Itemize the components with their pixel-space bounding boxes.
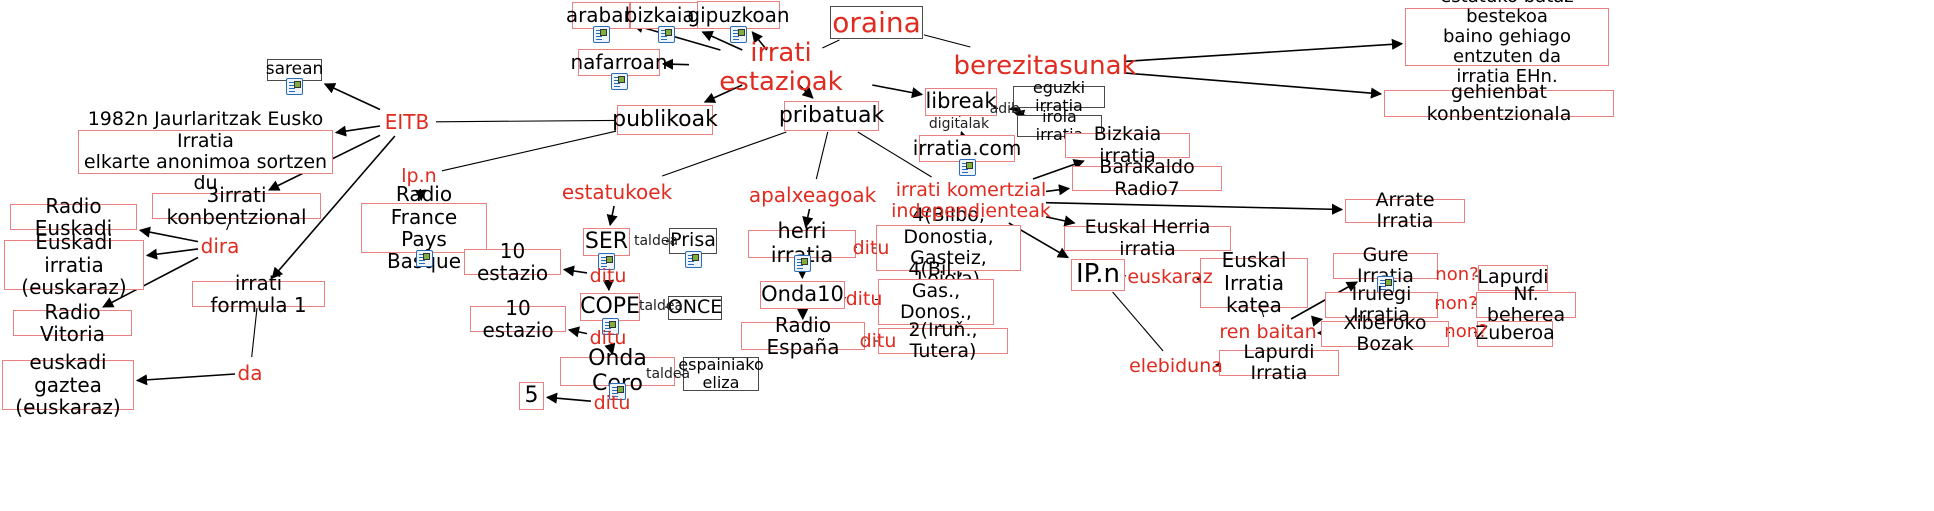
concept-node-estazio_10_a[interactable]: 10 estazio (464, 249, 561, 275)
concept-node-ser[interactable]: SER (583, 228, 630, 256)
edge-ditu-cope-to-estazio-10-b (569, 330, 587, 334)
linking-phrase-apalxeagoak[interactable]: apalxeagoak (749, 182, 876, 208)
concept-node-radio_euskadi[interactable]: Radio Euskadi (10, 204, 137, 230)
edge-dira-to-euskadi-irr (147, 249, 198, 256)
edge-eitb-to-eitb-1982 (336, 126, 380, 133)
concept-node-estazio_10_b[interactable]: 10 estazio (470, 306, 566, 332)
edge-estatukoek-to-ser (610, 206, 614, 225)
linking-phrase-dira[interactable]: dira (199, 233, 241, 259)
edge-dira-to-radio-euskadi (140, 230, 198, 241)
concept-node-bizkaia_irr[interactable]: Bizkaia irratia (1065, 133, 1190, 158)
concept-node-araban[interactable]: araban (572, 2, 630, 29)
linking-phrase-ditu_onda10[interactable]: ditu (844, 288, 884, 310)
concept-node-tresirrati[interactable]: 3irrati konbentzional (152, 193, 321, 219)
linking-phrase-ren_baitan[interactable]: ren baitan (1216, 320, 1320, 344)
linking-phrase-adib[interactable]: adib. (988, 101, 1026, 119)
concept-node-irrati_formula[interactable]: irrati formula 1 (192, 281, 325, 307)
concept-node-xiberoko[interactable]: Xiberoko Bozak (1321, 321, 1449, 347)
concept-node-euskalherria[interactable]: Euskal Herria irratia (1064, 226, 1231, 251)
linking-phrase-ditu_onda[interactable]: ditu (592, 392, 632, 414)
concept-node-euskadi_gaztea[interactable]: euskadi gaztea (euskaraz) (2, 360, 134, 410)
concept-node-barakaldo[interactable]: Barakaldo Radio7 (1072, 166, 1222, 191)
linking-phrase-da[interactable]: da (236, 360, 264, 386)
edge-pribatuak-to-apalxeagoak (816, 132, 827, 179)
edge-ditu-onda-to-cinco (547, 397, 591, 401)
concept-node-libreak[interactable]: libreak (925, 88, 997, 116)
linking-phrase-non_1[interactable]: non? (1434, 264, 1480, 286)
concept-node-arrate[interactable]: Arrate Irratia (1345, 199, 1465, 223)
resource-document-icon[interactable] (658, 26, 675, 43)
linking-phrase-ditu_espana[interactable]: ditu (858, 330, 898, 352)
linking-phrase-berezitasunak[interactable]: berezitasunak (965, 50, 1125, 83)
linking-phrase-taldea_cope[interactable]: taldea (639, 298, 683, 316)
concept-node-euskal_katea[interactable]: Euskal Irratia katea (1200, 258, 1308, 308)
concept-node-nafarroan[interactable]: nafarroan (578, 49, 660, 76)
concept-node-nf_beherea[interactable]: Nf. beherea (1476, 292, 1576, 318)
concept-node-onda10[interactable]: Onda10 (760, 281, 845, 309)
resource-document-icon[interactable] (685, 251, 702, 268)
linking-phrase-taldea_ser[interactable]: taldea (634, 233, 678, 251)
edge-berezitasunak-to-gehienbat (1126, 73, 1381, 94)
edge-ipn-to-elebiduna (1113, 292, 1164, 351)
concept-node-ipn[interactable]: IP.n (1071, 259, 1125, 291)
linking-phrase-ditu_ser[interactable]: ditu (588, 265, 628, 287)
concept-node-gehienbat[interactable]: gehienbat konbentzionala (1384, 90, 1614, 117)
concept-node-estatuko_batez[interactable]: estatuko bataz bestekoa baino gehiago en… (1405, 8, 1609, 66)
edge-pribatuak-to-estatukoek (662, 132, 786, 176)
edge-oraina-to-berezitasunak (924, 35, 970, 47)
concept-node-eguzki[interactable]: eguzki irratia (1013, 86, 1105, 108)
concept-node-espainiako[interactable]: espainiako eliza (683, 357, 759, 391)
linking-phrase-euskaraz[interactable]: euskaraz (1126, 265, 1214, 289)
edge-eitb-to-sarean (325, 84, 380, 110)
linking-phrase-taldea_onda[interactable]: taldea (646, 366, 690, 384)
concept-node-radio_espana[interactable]: Radio España (741, 322, 865, 350)
concept-map-canvas: arabanbizkaiangipuzkoannafarroanorainaes… (0, 0, 1934, 511)
concept-node-lapurdi_irr[interactable]: Lapurdi Irratia (1219, 350, 1339, 376)
concept-node-publikoak[interactable]: publikoak (617, 105, 713, 135)
linking-phrase-non_2[interactable]: non? (1433, 293, 1479, 315)
linking-phrase-ditu_herri[interactable]: ditu (851, 237, 891, 259)
edge-publikoak-to-lpn (442, 131, 616, 171)
concept-node-cope[interactable]: COPE (580, 293, 640, 321)
linking-phrase-digitalak[interactable]: digitalak (928, 116, 990, 134)
concept-node-herri_irratia[interactable]: herri irratia (748, 230, 856, 258)
resource-document-icon[interactable] (593, 26, 610, 43)
linking-phrase-lpn[interactable]: lp.n (399, 164, 439, 188)
linking-phrase-estatukoek[interactable]: estatukoek (561, 179, 673, 205)
resource-document-icon[interactable] (286, 78, 303, 95)
concept-node-radio_vitoria[interactable]: Radio Vitoria (13, 310, 132, 336)
linking-phrase-ditu_cope[interactable]: ditu (588, 327, 628, 349)
edge-irrati-estazioak-to-libreak (872, 85, 922, 95)
edge-berezitasunak-to-estatuko-batez (1126, 44, 1402, 62)
concept-node-euskadi_irr[interactable]: Euskadi irratia (euskaraz) (4, 240, 144, 290)
linking-phrase-elebiduna[interactable]: elebiduna (1130, 354, 1222, 378)
resource-document-icon[interactable] (959, 159, 976, 176)
linking-phrase-irrati_estazioak[interactable]: irrati estazioak (690, 51, 872, 84)
edge-irrati-komertzial-to-arrate (1046, 203, 1342, 210)
resource-document-icon[interactable] (794, 255, 811, 272)
edge-ditu-ser-to-estazio-10-a (564, 270, 587, 273)
concept-node-irratiacom[interactable]: irratia.com (919, 135, 1015, 162)
linking-phrase-non_3[interactable]: non? (1443, 321, 1489, 343)
edge-publikoak-to-eitb (436, 120, 616, 121)
resource-document-icon[interactable] (611, 73, 628, 90)
concept-node-oraina[interactable]: oraina (830, 6, 923, 39)
linking-phrase-eitb[interactable]: EITB (381, 109, 433, 135)
linking-phrase-irrati_komertzial[interactable]: irrati komertzial independienteak (897, 180, 1045, 222)
concept-node-eitb_1982[interactable]: 1982n Jaurlaritzak Eusko Irratia elkarte… (78, 130, 333, 174)
concept-node-gipuzkoan[interactable]: gipuzkoan (697, 1, 780, 29)
concept-node-pribatuak[interactable]: pribatuak (784, 101, 879, 131)
resource-document-icon[interactable] (416, 250, 433, 267)
edge-da-to-euskadi-gaztea (137, 374, 235, 381)
concept-node-cinco[interactable]: 5 (519, 382, 544, 410)
